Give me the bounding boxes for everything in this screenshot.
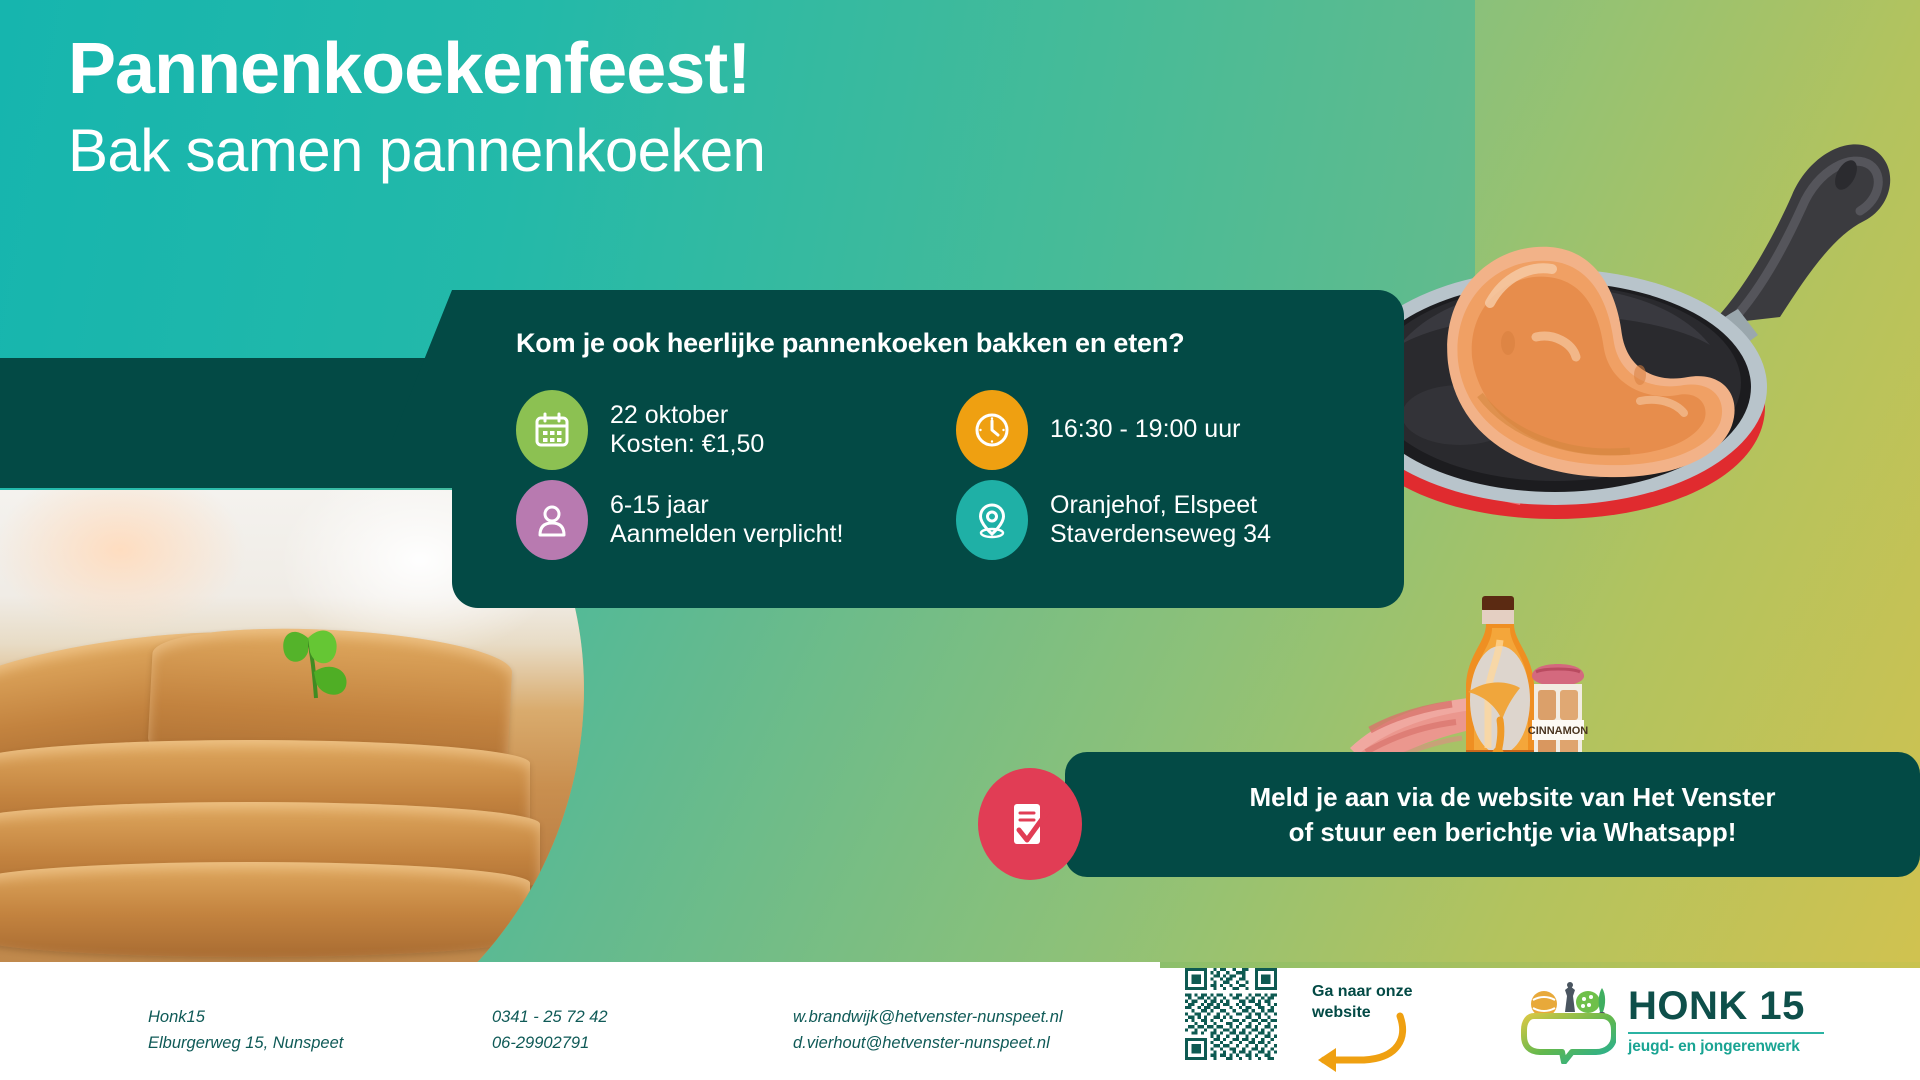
mint-garnish-icon (258, 612, 378, 708)
footer-address-column: Honk15 Elburgerweg 15, Nunspeet (148, 1005, 343, 1056)
svg-text:CINNAMON: CINNAMON (1528, 725, 1589, 737)
footer-phone-column: 0341 - 25 72 42 06-29902791 (492, 1005, 608, 1056)
signup-cta-banner: Meld je aan via de website van Het Venst… (1065, 752, 1920, 877)
person-icon (516, 480, 588, 560)
curved-arrow-icon (1292, 1012, 1412, 1072)
event-info-card: Kom je ook heerlijke pannenkoeken bakken… (452, 290, 1404, 608)
location-line1: Oranjehof, Elspeet (1050, 491, 1257, 519)
info-item-time: 16:30 - 19:00 uur (956, 385, 1396, 475)
poster-subtitle: Bak samen pannenkoeken (68, 117, 765, 184)
info-item-date-text: 22 oktober Kosten: €1,50 (610, 401, 764, 460)
honk15-logo-text: HONK 15 jeugd- en jongerenwerk (1628, 986, 1824, 1056)
logo-subtitle: jeugd- en jongerenwerk (1628, 1038, 1824, 1056)
age-line1: 6-15 jaar (610, 491, 709, 519)
footer-phone-landline[interactable]: 0341 - 25 72 42 (492, 1005, 608, 1031)
signup-cta-text: Meld je aan via de website van Het Venst… (1250, 780, 1776, 850)
info-item-date: 22 oktober Kosten: €1,50 (516, 385, 956, 475)
info-card-heading: Kom je ook heerlijke pannenkoeken bakken… (516, 328, 1364, 359)
poster-heading-group: Pannenkoekenfeest! Bak samen pannenkoeke… (68, 32, 765, 184)
footer-email-column: w.brandwijk@hetvenster-nunspeet.nl d.vie… (793, 1005, 1063, 1056)
info-item-age: 6-15 jaar Aanmelden verplicht! (516, 475, 956, 565)
date-line1: 22 oktober (610, 401, 728, 429)
footer-address: Elburgerweg 15, Nunspeet (148, 1031, 343, 1057)
honk15-logo-mark-icon (1520, 982, 1616, 1064)
logo-divider (1628, 1032, 1824, 1034)
qr-label-line1: Ga naar onze (1312, 982, 1432, 1003)
footer-email-2[interactable]: d.vierhout@hetvenster-nunspeet.nl (793, 1031, 1063, 1057)
info-item-age-text: 6-15 jaar Aanmelden verplicht! (610, 491, 843, 550)
info-item-location-text: Oranjehof, Elspeet Staverdenseweg 34 (1050, 491, 1271, 550)
info-items-grid: 22 oktober Kosten: €1,50 (516, 385, 1364, 565)
clock-icon (956, 390, 1028, 470)
signup-form-icon (978, 768, 1082, 880)
info-item-time-text: 16:30 - 19:00 uur (1050, 415, 1240, 445)
footer-org-name: Honk15 (148, 1005, 343, 1031)
syrup-bottle (1466, 596, 1534, 772)
location-pin-icon (956, 480, 1028, 560)
footer-phone-mobile[interactable]: 06-29902791 (492, 1031, 608, 1057)
honk15-logo: HONK 15 jeugd- en jongerenwerk (1520, 982, 1820, 1064)
footer-email-1[interactable]: w.brandwijk@hetvenster-nunspeet.nl (793, 1005, 1063, 1031)
logo-title: HONK 15 (1628, 986, 1824, 1026)
poster-canvas: Pannenkoekenfeest! Bak samen pannenkoeke… (0, 0, 1920, 1080)
crepe-layer (0, 862, 530, 957)
date-line2: Kosten: €1,50 (610, 430, 764, 460)
frying-pan-illustration (1340, 95, 1920, 555)
info-item-location: Oranjehof, Elspeet Staverdenseweg 34 (956, 475, 1396, 565)
cta-line1: Meld je aan via de website van Het Venst… (1250, 780, 1776, 815)
calendar-icon (516, 390, 588, 470)
time-line1: 16:30 - 19:00 uur (1050, 415, 1240, 443)
poster-title: Pannenkoekenfeest! (68, 32, 765, 107)
location-line2: Staverdenseweg 34 (1050, 520, 1271, 550)
syrup-bacon-cinnamon-illustration: CINNAMON (1340, 580, 1620, 780)
qr-code[interactable] (1185, 968, 1277, 1060)
cta-line2: of stuur een berichtje via Whatsapp! (1250, 815, 1776, 850)
age-line2: Aanmelden verplicht! (610, 520, 843, 550)
